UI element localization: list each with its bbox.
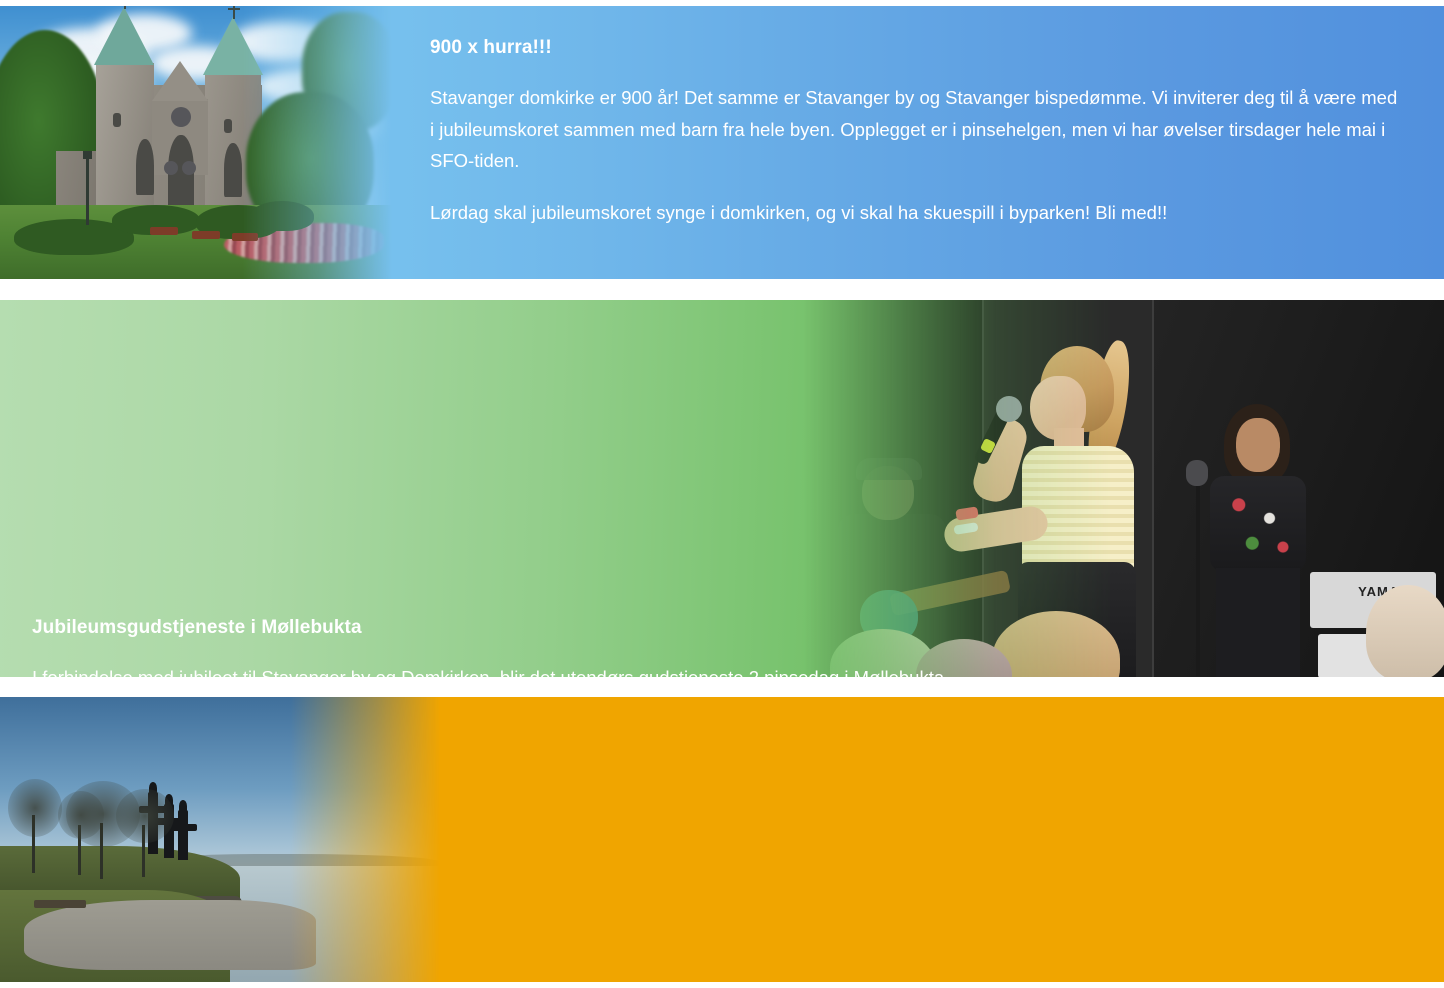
lamp-post bbox=[86, 157, 89, 225]
stavanger-cathedral-photo bbox=[0, 6, 392, 279]
blue-heading: 900 x hurra!!! bbox=[430, 36, 1405, 60]
cathedral-spire-left bbox=[94, 7, 154, 65]
section-blue: 900 x hurra!!! Stavanger domkirke er 900… bbox=[0, 6, 1444, 279]
green-heading: Jubileumsgudstjeneste i Møllebukta bbox=[32, 616, 1007, 640]
backing-singer-floral-top bbox=[1210, 476, 1306, 572]
cathedral-window bbox=[224, 143, 242, 197]
park-bench bbox=[150, 227, 178, 235]
tower-slit bbox=[113, 113, 121, 127]
park-bench bbox=[34, 900, 86, 908]
cathedral-window bbox=[136, 139, 154, 195]
rose-window bbox=[182, 161, 196, 175]
rose-window bbox=[164, 161, 178, 175]
mic-stand bbox=[1196, 480, 1200, 676]
spire-cross bbox=[124, 6, 126, 9]
section-orange: Bli med oss!! Vi har øvelser hver tirsda… bbox=[0, 697, 1444, 982]
crowd-head bbox=[1366, 585, 1444, 677]
spacer bbox=[430, 177, 1405, 197]
bare-tree bbox=[8, 779, 62, 837]
cathedral-gable bbox=[152, 61, 208, 101]
pebble-beach bbox=[24, 900, 316, 970]
poster-root: 900 x hurra!!! Stavanger domkirke er 900… bbox=[0, 0, 1444, 988]
spacer bbox=[32, 642, 1007, 662]
backing-singer-face bbox=[1236, 418, 1280, 472]
bush-shape bbox=[250, 201, 314, 231]
sverd-i-fjell-monument-photo bbox=[0, 697, 440, 982]
stage-seam bbox=[1152, 300, 1154, 677]
sword-monument bbox=[178, 810, 188, 860]
green-paragraph-1: I forbindelse med jubileet til Stavanger… bbox=[32, 662, 1007, 677]
tower-slit bbox=[224, 119, 232, 133]
green-text-block: Jubileumsgudstjeneste i Møllebukta I for… bbox=[32, 616, 1007, 677]
cathedral-spire-right bbox=[203, 17, 263, 75]
tree-trunk bbox=[32, 815, 35, 873]
guitarist-cap bbox=[856, 458, 922, 480]
bare-tree bbox=[116, 789, 174, 843]
backing-singer-trousers bbox=[1216, 568, 1300, 677]
park-bench bbox=[192, 231, 220, 239]
rose-window bbox=[171, 107, 191, 127]
microphone-secondary bbox=[1186, 460, 1208, 486]
tree-trunk bbox=[100, 823, 103, 879]
blue-paragraph-1: Stavanger domkirke er 900 år! Det samme … bbox=[430, 82, 1405, 177]
tree-trunk bbox=[142, 825, 145, 877]
spire-cross bbox=[233, 6, 235, 19]
blue-paragraph-2: Lørdag skal jubileumskoret synge i domki… bbox=[430, 197, 1405, 229]
microphone-head bbox=[996, 396, 1022, 422]
spacer bbox=[430, 62, 1405, 82]
park-bench bbox=[232, 233, 258, 241]
section-green: YAMAHA Jubileumsgudstjeneste i Møllebukt… bbox=[0, 300, 1444, 677]
blue-text-block: 900 x hurra!!! Stavanger domkirke er 900… bbox=[430, 36, 1405, 229]
